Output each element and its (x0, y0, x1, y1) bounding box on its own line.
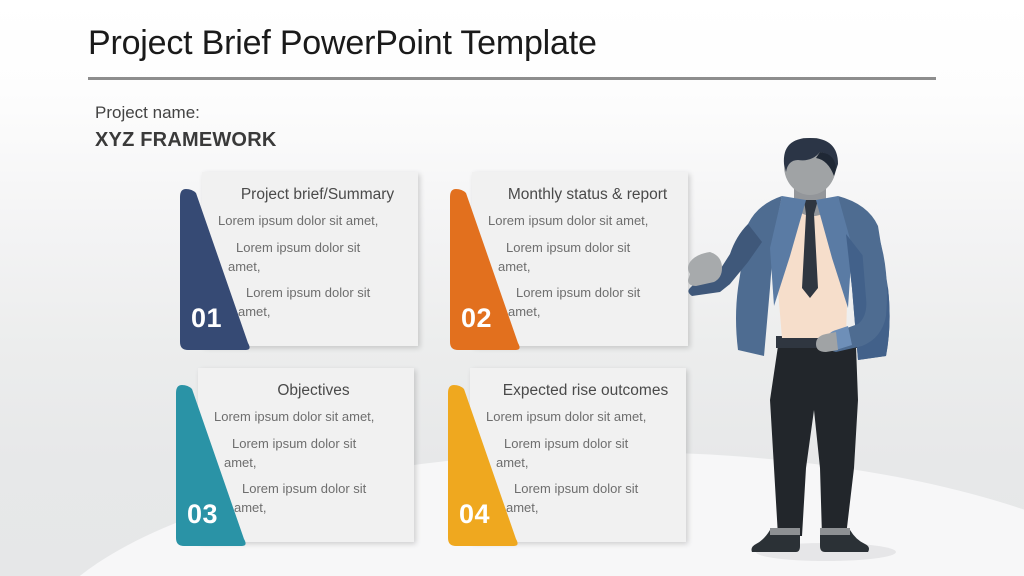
card-body-line: Lorem ipsum dolor sit amet, (214, 408, 410, 426)
card-project-brief[interactable]: 01 Project brief/Summary Lorem ipsum dol… (180, 172, 418, 350)
slide-canvas: Project Brief PowerPoint Template Projec… (0, 0, 1024, 576)
title-divider (88, 77, 936, 80)
card-heading: Project brief/Summary (220, 186, 415, 204)
card-body-line: Lorem ipsum dolor sit (514, 480, 682, 498)
card-body-line: amet, (238, 303, 414, 321)
project-name-label: Project name: (95, 103, 200, 123)
card-body-line: Lorem ipsum dolor sit (242, 480, 410, 498)
card-body: Lorem ipsum dolor sit amet, Lorem ipsum … (482, 408, 682, 517)
card-expected-outcomes[interactable]: 04 Expected rise outcomes Lorem ipsum do… (448, 368, 686, 546)
card-body: Lorem ipsum dolor sit amet, Lorem ipsum … (214, 212, 414, 321)
card-body-line: Lorem ipsum dolor sit (516, 284, 684, 302)
card-body-line: Lorem ipsum dolor sit (504, 435, 682, 453)
card-body: Lorem ipsum dolor sit amet, Lorem ipsum … (210, 408, 410, 517)
card-body-line: amet, (224, 454, 410, 472)
card-body-line: Lorem ipsum dolor sit amet, (218, 212, 414, 230)
project-name-value: XYZ FRAMEWORK (95, 129, 276, 152)
card-body-line: amet, (498, 258, 684, 276)
card-body-line: Lorem ipsum dolor sit (246, 284, 414, 302)
card-body-line: amet, (506, 499, 682, 517)
card-heading: Monthly status & report (490, 186, 685, 204)
card-body-line: amet, (234, 499, 410, 517)
card-body: Lorem ipsum dolor sit amet, Lorem ipsum … (484, 212, 684, 321)
card-body-line: Lorem ipsum dolor sit amet, (486, 408, 682, 426)
card-monthly-status[interactable]: 02 Monthly status & report Lorem ipsum d… (450, 172, 688, 350)
card-body-line: Lorem ipsum dolor sit (506, 239, 684, 257)
card-heading: Expected rise outcomes (488, 382, 683, 400)
card-body-line: Lorem ipsum dolor sit (232, 435, 410, 453)
card-body-line: Lorem ipsum dolor sit amet, (488, 212, 684, 230)
card-body-line: amet, (228, 258, 414, 276)
card-heading: Objectives (216, 382, 411, 400)
card-body-line: Lorem ipsum dolor sit (236, 239, 414, 257)
card-objectives[interactable]: 03 Objectives Lorem ipsum dolor sit amet… (176, 368, 414, 546)
page-title: Project Brief PowerPoint Template (88, 24, 597, 63)
card-body-line: amet, (496, 454, 682, 472)
card-body-line: amet, (508, 303, 684, 321)
businessman-illustration (686, 138, 936, 563)
